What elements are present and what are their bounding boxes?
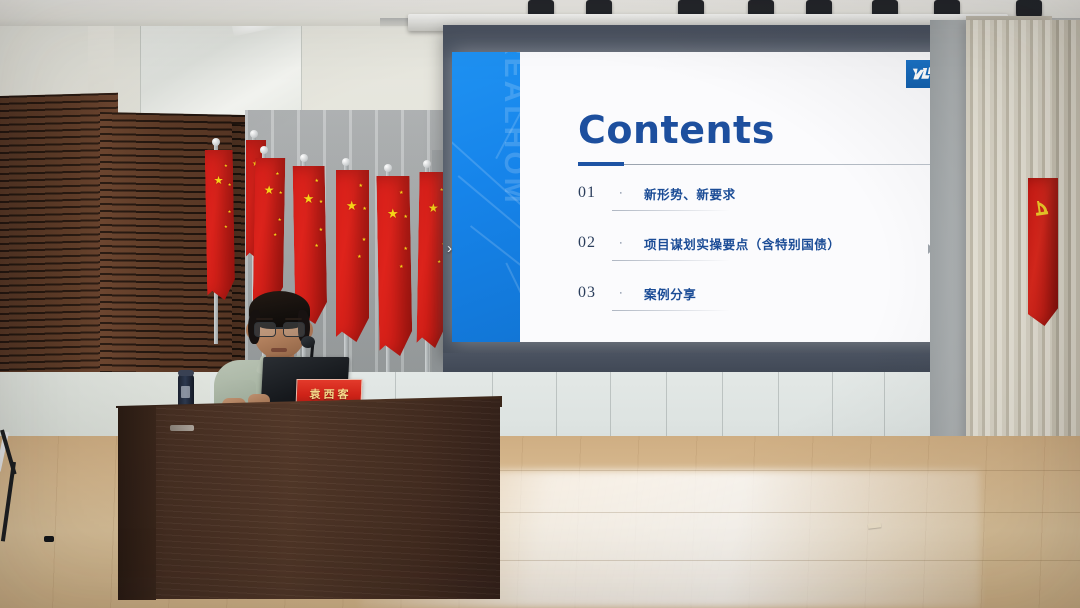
slide-title: Contents [578, 108, 775, 152]
flag-small-star-icon: ★ [404, 216, 409, 221]
prev-slide-chevron[interactable]: › [447, 240, 452, 257]
flag-small-star-icon: ★ [224, 225, 228, 229]
podium-badge [170, 425, 194, 431]
national-flag: ★★★★★ [253, 158, 286, 308]
flag-large-star-icon: ★ [387, 207, 399, 220]
slide-body: 泰禾行 REALHOM Contents 01·新形势、新要求02·项目谋划实操… [520, 52, 997, 342]
flag-small-star-icon: ★ [273, 233, 277, 238]
flag-large-star-icon: ★ [346, 199, 358, 212]
toc-label: 新形势、新要求 [644, 184, 736, 203]
flag-small-star-icon: ★ [228, 210, 232, 214]
tripod-foot [44, 536, 54, 542]
flagpole-finial [212, 138, 220, 146]
microphone-head [301, 336, 315, 348]
toc-separator: · [619, 287, 623, 299]
toc-underline [612, 210, 730, 211]
eyeglasses-lens-left [254, 322, 276, 337]
toc-number: 03 [578, 284, 596, 302]
hammer-sickle-icon [1034, 198, 1052, 224]
flagpole-finial [300, 154, 308, 162]
presenter-mouth [271, 348, 287, 352]
toc-number: 01 [578, 184, 596, 202]
flag-small-star-icon: ★ [228, 183, 232, 187]
flag-small-star-icon: ★ [319, 201, 323, 206]
flag-small-star-icon: ★ [278, 218, 282, 223]
toc-underline [612, 310, 730, 311]
flag-small-star-icon: ★ [357, 256, 361, 261]
right-wall [930, 20, 970, 460]
flagpole-finial [260, 146, 268, 154]
flag-small-star-icon: ★ [315, 180, 319, 185]
nameplate-character: 西 [323, 386, 335, 402]
podium-left-face [118, 406, 156, 600]
flag-small-star-icon: ★ [358, 185, 362, 190]
bottle-cap [178, 370, 194, 376]
eyeglasses-lens-right [283, 322, 305, 337]
toc-label: 案例分享 [644, 284, 696, 303]
flagpole-finial [342, 158, 350, 166]
flag-large-star-icon: ★ [264, 184, 275, 196]
national-flag-partial: ★★★★★ [205, 150, 236, 300]
flag-small-star-icon: ★ [279, 191, 283, 196]
toc-separator: · [619, 187, 623, 199]
flag-small-star-icon: ★ [314, 245, 318, 250]
toc-separator: · [619, 237, 623, 249]
bottle-label [181, 386, 190, 398]
flag-small-star-icon: ★ [319, 229, 323, 234]
flagpole-finial [384, 164, 392, 172]
toc-number: 02 [578, 234, 596, 252]
slide-accent-panel: REALHOM [452, 52, 520, 342]
conference-hall-photo: ★★★★★★★★★★★★★★★★★★★★★★★★★★★★★★★★★★★ REAL… [0, 0, 1080, 608]
projection-screen[interactable]: REALHOM 泰禾行 REALHOM [452, 52, 997, 342]
flag-small-star-icon: ★ [362, 208, 366, 213]
flag-large-star-icon: ★ [303, 193, 315, 206]
toc-underline [612, 260, 730, 261]
national-flag: ★★★★★ [336, 170, 369, 342]
national-flag: ★★★★★ [376, 176, 412, 356]
flag-small-star-icon: ★ [275, 172, 279, 177]
flagpole-finial [250, 130, 258, 138]
flag-small-star-icon: ★ [399, 266, 404, 271]
flag-large-star-icon: ★ [214, 176, 224, 187]
flagpole-finial [423, 160, 431, 168]
flag-large-star-icon: ★ [428, 202, 439, 214]
flag-small-star-icon: ★ [403, 248, 408, 253]
flag-small-star-icon: ★ [362, 239, 366, 244]
flag-small-star-icon: ★ [224, 164, 228, 168]
toc-label: 项目谋划实操要点（含特别国债） [644, 234, 841, 253]
flag-small-star-icon: ★ [437, 260, 441, 265]
nameplate-character: 客 [337, 386, 349, 402]
flag-small-star-icon: ★ [399, 192, 404, 197]
title-accent-rule [578, 162, 624, 166]
eyeglasses-bridge [276, 327, 283, 329]
nameplate-character: 袁 [309, 386, 321, 402]
